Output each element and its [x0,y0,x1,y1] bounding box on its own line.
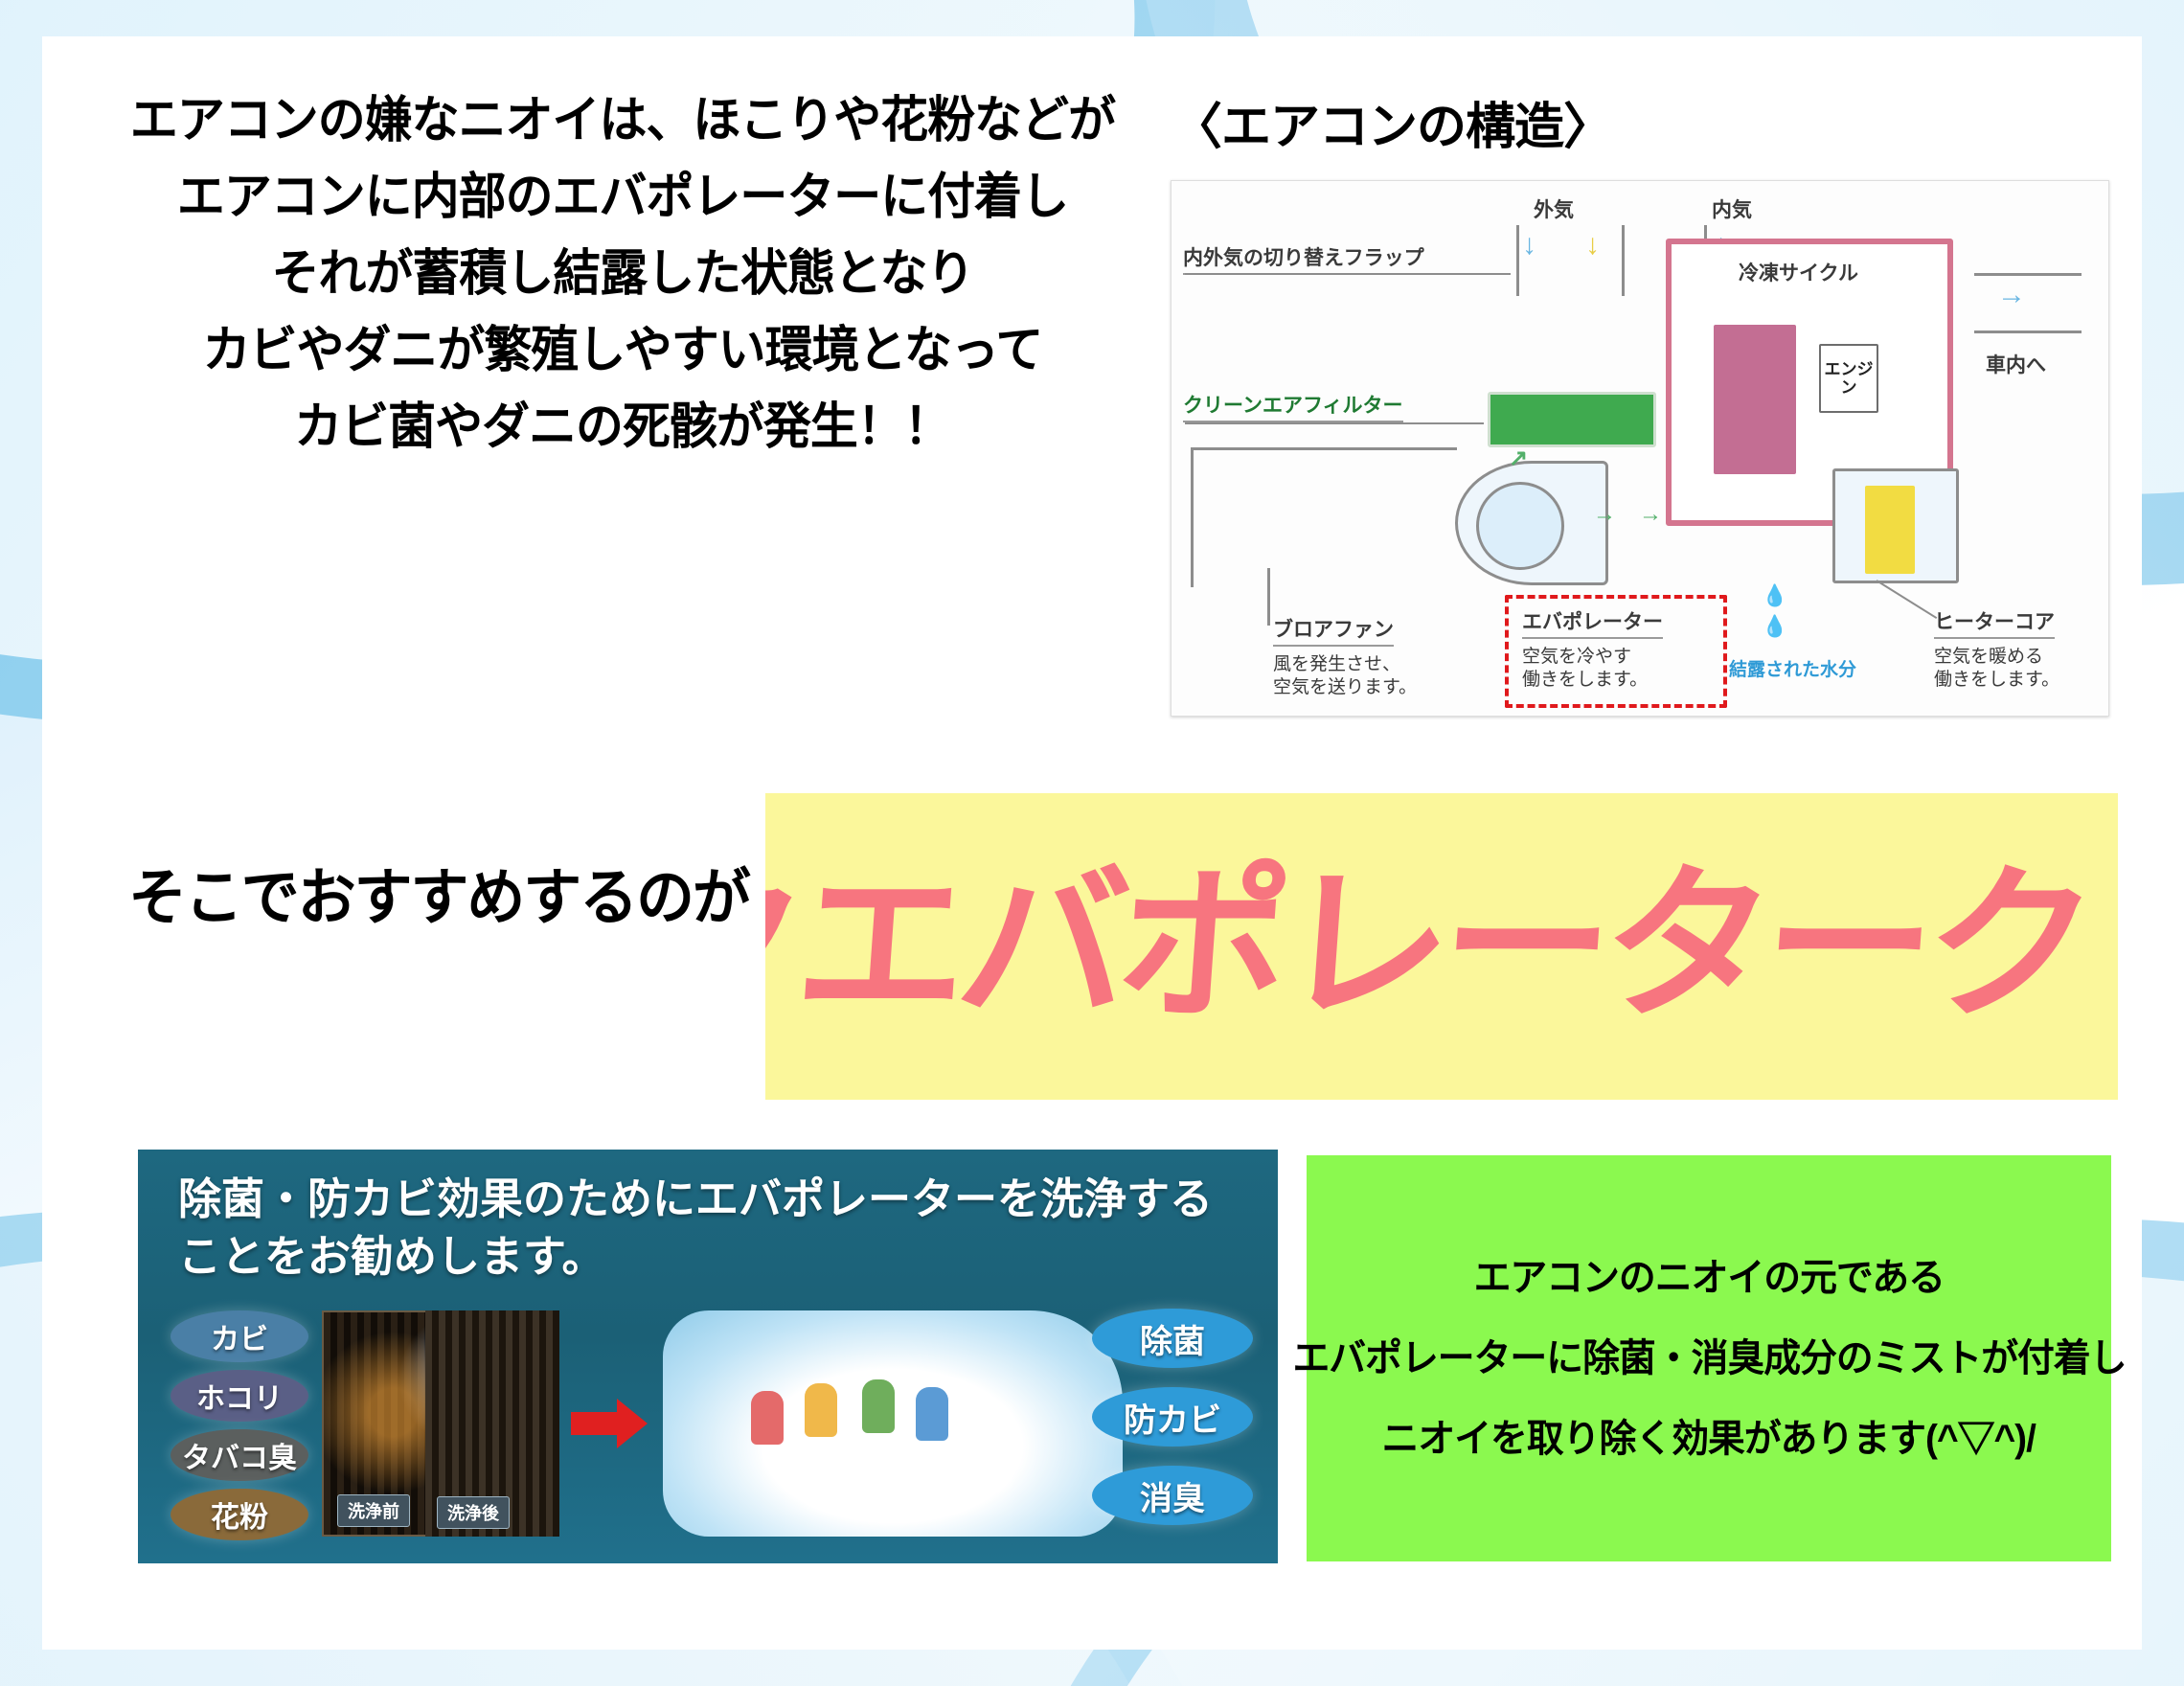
product-name-banner: クイックエバポレータークリーナー [765,793,2118,1100]
label-outside-air: 外気 [1534,194,1574,223]
effect-explanation-box: エアコンのニオイの元である エバポレーターに除菌・消臭成分のミストが付着し ニオ… [1307,1155,2111,1561]
illustration-person [751,1391,784,1445]
benefit-pill-mold-prevention: 防カビ [1092,1387,1253,1447]
red-arrow-icon [571,1397,648,1450]
contaminant-pill-dust: ホコリ [171,1370,308,1422]
ac-structure-diagram: 外気 内気 ↓ ↓ ↓ 内外気の切り替えフラップ 冷凍サイクル クリーンエアフィ… [1171,180,2109,717]
contaminant-pill-pollen: 花粉 [171,1489,308,1540]
intro-line: エアコンの嫌なニオイは、ほこりや花粉などが [117,82,1128,159]
car-interior-illustration [663,1310,1123,1537]
engine-box: エンジン [1819,344,1878,413]
benefit-pill-sterilization: 除菌 [1092,1309,1253,1368]
airflow-arrow-icon: → [1593,503,1616,526]
contaminant-pill-tobacco-odor: タバコ臭 [171,1429,308,1481]
duct-line [1191,447,1194,587]
label-evaporator-desc-1: 空気を冷やす [1522,645,1631,669]
water-droplet-icon: 💧 [1762,583,1787,608]
intro-paragraph: エアコンの嫌なニオイは、ほこりや花粉などが エアコンに内部のエバポレーターに付着… [96,82,1149,466]
label-heater-core: ヒーターコア [1934,606,2055,639]
illustration-person [862,1379,895,1433]
intro-line: カビやダニが繁殖しやすい環境となって [117,312,1128,389]
diagram-title: 〈エアコンの構造〉 [1172,86,1612,158]
cleaning-panel-heading: 除菌・防カビ効果のためにエバポレーターを洗浄することをお勧めします。 [178,1171,1241,1286]
clean-air-filter-block [1488,392,1656,447]
evaporator-block [1714,325,1796,474]
duct-line [1974,273,2082,276]
label-evaporator-desc-2: 働きをします。 [1522,668,1648,692]
label-condensed-water: 結露された水分 [1729,658,1856,682]
effect-line: ニオイを取り除く効果があります(^▽^)/ [1382,1399,2036,1479]
contaminant-pill-mold: カビ [171,1310,308,1362]
airflow-arrow-down-icon: ↓ [1522,231,1536,260]
cleaning-recommendation-panel: 除菌・防カビ効果のためにエバポレーターを洗浄することをお勧めします。 カビ ホコ… [138,1150,1278,1563]
benefit-pill-deodorization: 消臭 [1092,1466,1253,1525]
blower-fan-wheel [1476,482,1564,570]
recommend-lead-text: そこでおすすめするのが [128,849,749,937]
label-blower-fan: ブロアファン [1273,614,1394,647]
label-evaporator: エバポレーター [1522,606,1663,639]
label-heater-core-desc-2: 働きをします。 [1934,668,2059,692]
effect-line: エバポレーターに除菌・消臭成分のミストが付着し [1292,1318,2126,1399]
duct-line [1191,447,1457,450]
label-blower-fan-desc-2: 空気を送ります。 [1273,675,1417,699]
label-refrigeration-cycle: 冷凍サイクル [1739,258,1858,286]
water-droplet-icon: 💧 [1762,614,1787,639]
product-name-text: クイックエバポレータークリーナー [765,855,2118,1037]
leader-line [1267,568,1270,626]
label-clean-air-filter: クリーンエアフィルター [1183,390,1403,422]
airflow-arrow-icon: → [1639,503,1662,526]
intro-line: それが蓄積し結露した状態となり [117,236,1128,312]
photo-caption-before: 洗浄前 [337,1494,410,1527]
airflow-arrow-down-icon: ↓ [1585,231,1600,260]
evaporator-photo-after: 洗浄後 [425,1310,559,1537]
photo-caption-after: 洗浄後 [437,1496,510,1529]
effect-line: エアコンのニオイの元である [1473,1238,1944,1318]
intro-line: エアコンに内部のエバポレーターに付着し [117,159,1128,236]
label-air-flap: 内外気の切り替えフラップ [1183,242,1424,275]
airflow-arrow-right-icon: → [1997,281,2026,309]
label-to-cabin: 車内へ [1986,350,2046,378]
slide-content-card: エアコンの嫌なニオイは、ほこりや花粉などが エアコンに内部のエバポレーターに付着… [42,36,2142,1650]
leader-line [1876,580,1937,619]
duct-line [1516,225,1519,296]
airflow-arrow-icon: ↗ [1509,447,1528,470]
duct-line [1974,330,2082,333]
label-blower-fan-desc-1: 風を発生させ、 [1273,652,1400,676]
illustration-person [916,1387,948,1441]
illustration-person [805,1383,837,1437]
duct-line [1622,225,1625,296]
leader-line [1185,273,1511,275]
intro-line: カビ菌やダニの死骸が発生！！ [117,389,1128,466]
label-inside-air: 内気 [1712,194,1752,223]
label-heater-core-desc-1: 空気を暖める [1934,645,2043,669]
leader-line [1185,422,1484,424]
heater-core-block [1865,486,1915,574]
